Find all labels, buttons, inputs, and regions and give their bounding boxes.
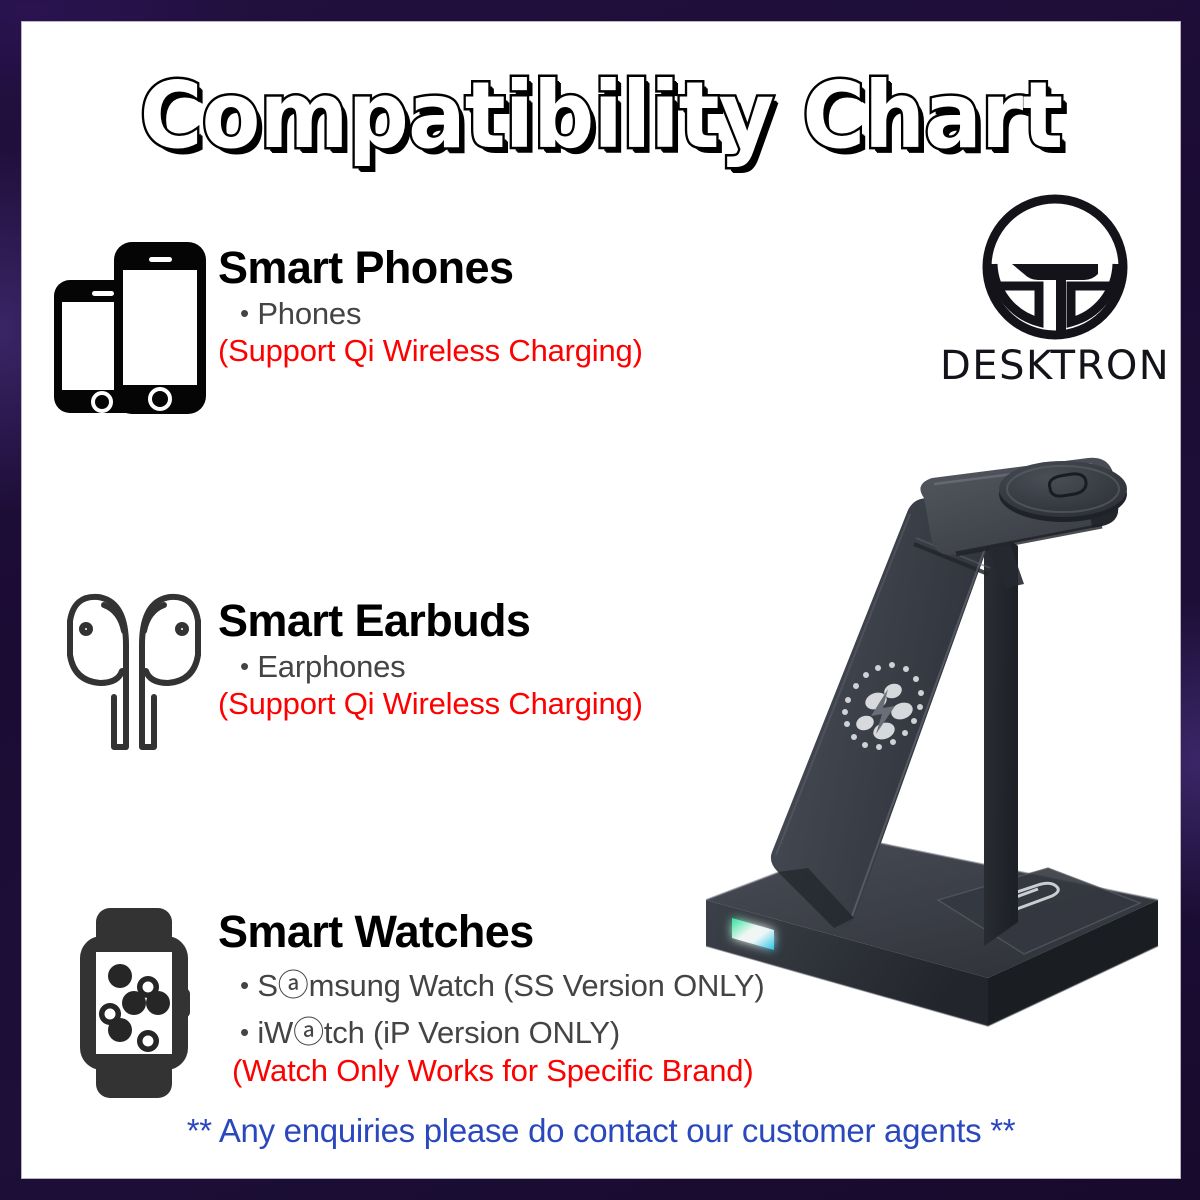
section-note: (Support Qi Wireless Charging) — [218, 333, 643, 369]
two-smartphones-glyph — [50, 232, 210, 417]
two-smartphones-icon — [50, 232, 210, 422]
poster-canvas: Compatibility Chart DESKTRON — [22, 22, 1180, 1178]
page-title: Compatibility Chart — [140, 70, 1062, 162]
desktron-circle-t-logo-icon — [952, 192, 1158, 342]
section-bullet: • Phones — [218, 296, 643, 332]
section-note: (Watch Only Works for Specific Brand) — [218, 1053, 765, 1089]
brand-name: DESKTRON — [940, 343, 1170, 389]
title-container: Compatibility Chart — [22, 70, 1180, 162]
smartwatch-glyph — [66, 906, 206, 1101]
section-smart-earbuds-text: Smart Earbuds • Earphones (Support Qi Wi… — [218, 595, 643, 722]
bullet-text: iWⓐtch (iP Version ONLY) — [257, 1015, 620, 1050]
wireless-earbuds-icon — [64, 585, 204, 760]
wireless-earbuds-glyph — [64, 585, 204, 755]
footer-note: ** Any enquiries please do contact our c… — [22, 1112, 1180, 1150]
section-smart-phones: Smart Phones • Phones (Support Qi Wirele… — [50, 220, 750, 416]
smartwatch-icon — [66, 906, 206, 1106]
section-bullet: • iWⓐtch (iP Version ONLY) — [218, 1007, 765, 1052]
bullet-dot: • — [240, 298, 249, 328]
bullet-text: Earphones — [257, 649, 405, 684]
brand-logo: DESKTRON — [940, 192, 1170, 389]
bullet-dot: • — [240, 651, 249, 681]
bullet-dot: • — [240, 970, 249, 1000]
section-title: Smart Watches — [218, 906, 765, 958]
section-bullet: • Earphones — [218, 649, 643, 685]
section-smart-watches-text: Smart Watches • Sⓐmsung Watch (SS Versio… — [218, 906, 765, 1089]
section-note: (Support Qi Wireless Charging) — [218, 686, 643, 722]
bullet-text: Phones — [257, 296, 361, 331]
section-smart-earbuds: Smart Earbuds • Earphones (Support Qi Wi… — [50, 567, 750, 763]
watch-charging-puck — [999, 461, 1127, 522]
bullet-dot: • — [240, 1017, 249, 1047]
section-title: Smart Earbuds — [218, 595, 643, 647]
section-title: Smart Phones — [218, 242, 643, 294]
section-smart-phones-text: Smart Phones • Phones (Support Qi Wirele… — [218, 242, 643, 369]
bullet-text: Sⓐmsung Watch (SS Version ONLY) — [257, 968, 764, 1003]
section-bullet: • Sⓐmsung Watch (SS Version ONLY) — [218, 960, 765, 1005]
section-smart-watches: Smart Watches • Sⓐmsung Watch (SS Versio… — [50, 882, 830, 1112]
poster-root: Compatibility Chart DESKTRON — [0, 0, 1200, 1200]
